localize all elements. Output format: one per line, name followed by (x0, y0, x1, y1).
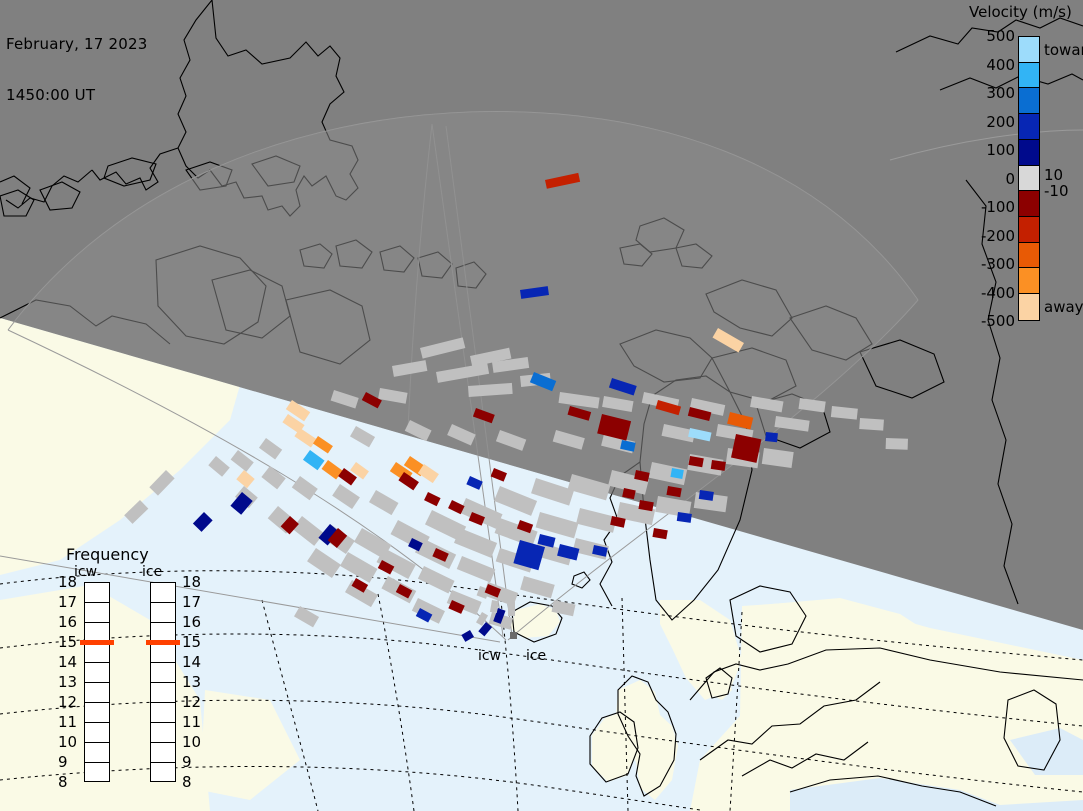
frequency-scale-cell (85, 723, 109, 743)
frequency-scale-label: 8 (182, 773, 192, 791)
frequency-scale-cell (151, 703, 175, 723)
colorbar-segment (1019, 140, 1039, 166)
frequency-scale-label: 15 (182, 633, 201, 651)
colorbar-title: Velocity (m/s) (969, 3, 1072, 21)
colorbar-tick-label: 100 (986, 141, 1015, 159)
velocity-colorbar-panel: Velocity (m/s) 5004003002001000-100-200-… (955, 0, 1083, 340)
colorbar-tick-label: -100 (981, 198, 1015, 216)
timestamp-block: February, 17 2023 1450:00 UT (6, 2, 147, 138)
frequency-scale-cell (151, 643, 175, 663)
colorbar-gradient (1018, 36, 1040, 321)
frequency-scale-cell (85, 703, 109, 723)
frequency-scale-label: 9 (182, 753, 192, 771)
frequency-scale-label: 12 (182, 693, 201, 711)
frequency-scale-label: 18 (58, 573, 77, 591)
frequency-scale-label: 11 (58, 713, 77, 731)
colorbar-segment (1019, 191, 1039, 217)
frequency-scale-label: 16 (182, 613, 201, 631)
timestamp-time: 1450:00 UT (6, 87, 147, 104)
frequency-column-label-icw: icw (74, 564, 97, 580)
frequency-scale-label: 14 (58, 653, 77, 671)
colorbar-tick-label: 0 (1005, 170, 1015, 188)
frequency-scale-cell (151, 683, 175, 703)
frequency-scale-cell (151, 663, 175, 683)
colorbar-tick-label: 500 (986, 27, 1015, 45)
frequency-scale-label: 17 (58, 593, 77, 611)
velocity-map-screenshot: February, 17 2023 1450:00 UT Velocity (m… (0, 0, 1083, 811)
colorbar-segment (1019, 63, 1039, 89)
radar-site-marker (510, 632, 517, 639)
frequency-scale-label: 10 (182, 733, 201, 751)
frequency-scale-label: 13 (182, 673, 201, 691)
radar-site-label-ice: ice (526, 648, 546, 664)
frequency-column-label-ice: ice (142, 564, 162, 580)
frequency-scale-cell (151, 583, 175, 603)
colorbar-tick-label: 400 (986, 56, 1015, 74)
frequency-scale-label: 9 (58, 753, 68, 771)
frequency-scale-cell (85, 603, 109, 623)
frequency-bar-ice (150, 582, 176, 782)
frequency-scale-cell (85, 663, 109, 683)
colorbar-side-label: away (1044, 298, 1083, 316)
colorbar-tick-label: -300 (981, 255, 1015, 273)
velocity-cell-rect (765, 432, 778, 442)
frequency-scale-label: 17 (182, 593, 201, 611)
frequency-scale-label: 15 (58, 633, 77, 651)
frequency-bar-icw (84, 582, 110, 782)
colorbar-segment (1019, 243, 1039, 269)
colorbar-side-label: -10 (1044, 182, 1069, 200)
frequency-scale-cell (85, 763, 109, 783)
colorbar-side-label: 10 (1044, 166, 1063, 184)
colorbar-tick-label: -200 (981, 227, 1015, 245)
timestamp-date: February, 17 2023 (6, 36, 147, 53)
frequency-marker (146, 640, 180, 645)
frequency-marker (80, 640, 114, 645)
frequency-scale-cell (151, 723, 175, 743)
velocity-cell (765, 432, 778, 442)
frequency-scale-label: 16 (58, 613, 77, 631)
frequency-scale-cell (151, 743, 175, 763)
radar-site-label-icw: icw (478, 648, 501, 664)
colorbar-segment (1019, 268, 1039, 294)
frequency-scale-label: 11 (182, 713, 201, 731)
frequency-scale-label: 14 (182, 653, 201, 671)
colorbar-tick-label: -500 (981, 312, 1015, 330)
colorbar-side-label: toward (1044, 41, 1083, 59)
radar-site-labels: icw ice (478, 648, 546, 664)
colorbar-segment (1019, 294, 1039, 320)
colorbar-segment (1019, 114, 1039, 140)
frequency-scale-cell (85, 743, 109, 763)
frequency-scale-cell (151, 603, 175, 623)
frequency-scale-cell (85, 643, 109, 663)
frequency-legend-title: Frequency (66, 545, 149, 564)
frequency-scale-label: 18 (182, 573, 201, 591)
colorbar-tick-label: -400 (981, 284, 1015, 302)
frequency-scale-cell (85, 583, 109, 603)
colorbar-segment (1019, 88, 1039, 114)
frequency-scale-cell (151, 763, 175, 783)
frequency-scale-cell (85, 683, 109, 703)
colorbar-segment (1019, 217, 1039, 243)
colorbar-segment (1019, 166, 1039, 192)
frequency-scale-label: 10 (58, 733, 77, 751)
frequency-legend-panel: Frequency icw ice 18171615141312111098 1… (50, 545, 200, 790)
frequency-scale-label: 12 (58, 693, 77, 711)
colorbar-tick-label: 300 (986, 84, 1015, 102)
colorbar-tick-label: 200 (986, 113, 1015, 131)
frequency-scale-label: 13 (58, 673, 77, 691)
frequency-scale-label: 8 (58, 773, 68, 791)
colorbar-segment (1019, 37, 1039, 63)
